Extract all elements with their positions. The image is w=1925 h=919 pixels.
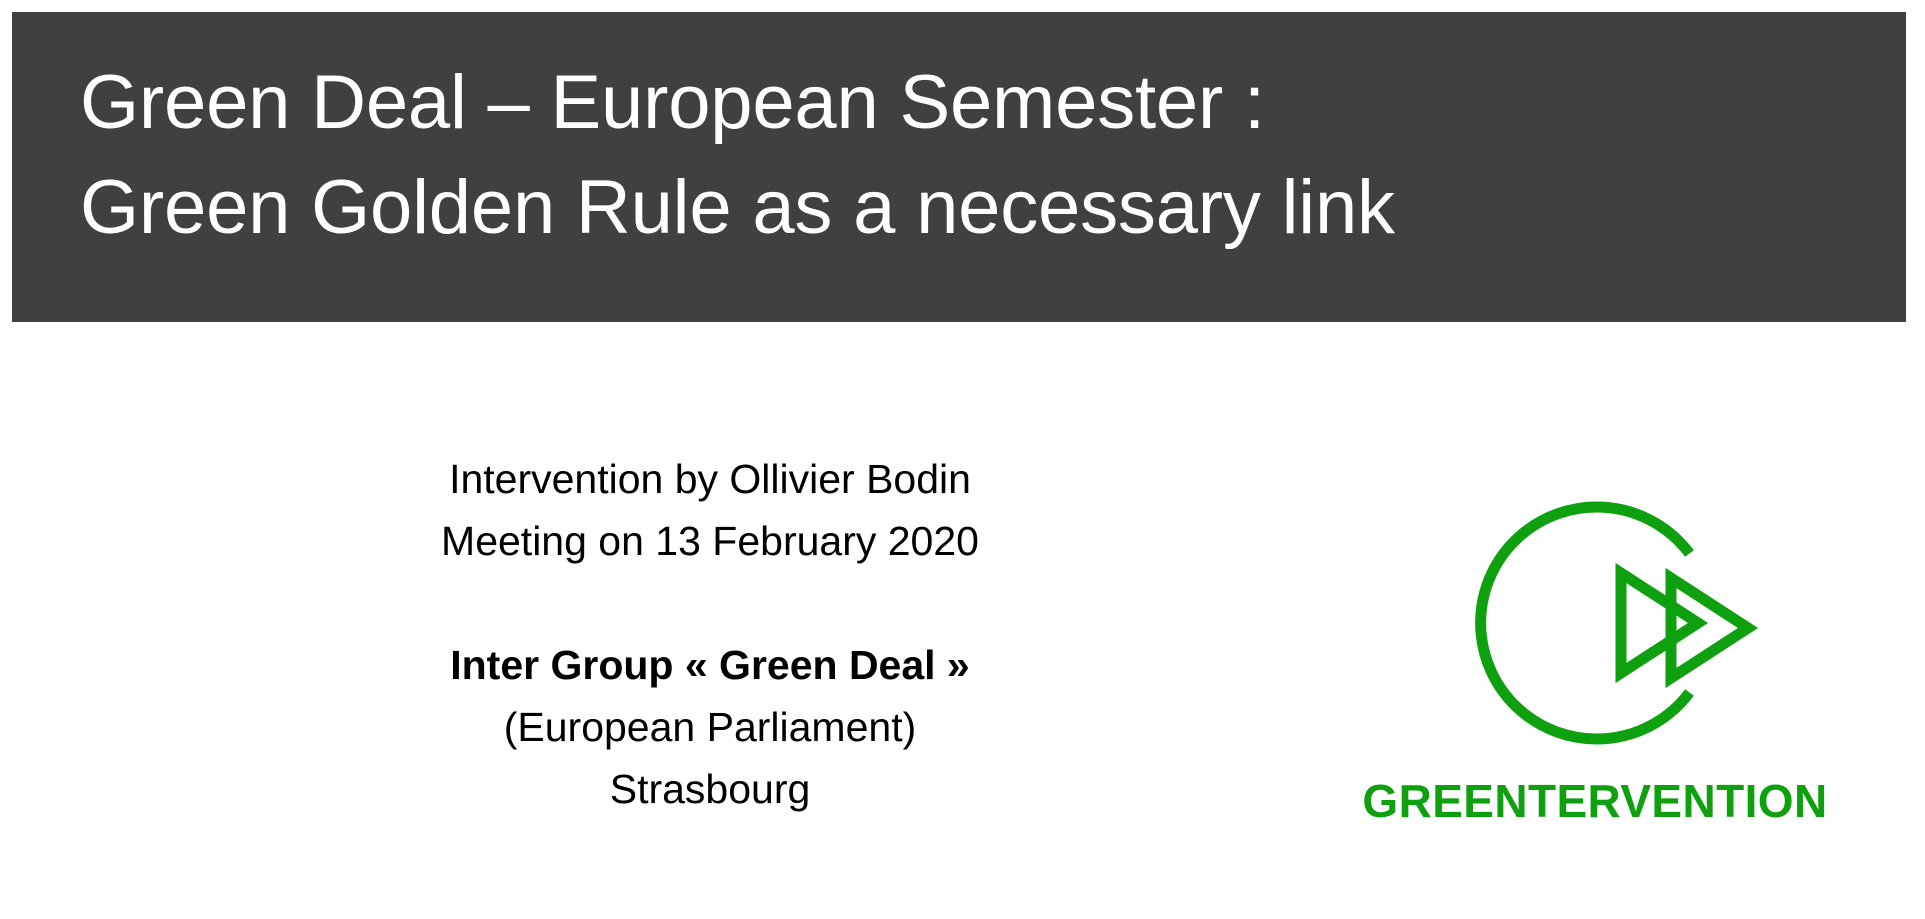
meeting-date-line: Meeting on 13 February 2020 <box>275 510 1145 572</box>
slide-canvas: Green Deal – European Semester : Green G… <box>0 0 1925 919</box>
greentervention-mark-icon <box>1445 492 1765 754</box>
greentervention-logo: GREENTERVENTION <box>1335 492 1855 852</box>
subtitle-block: Intervention by Ollivier Bodin Meeting o… <box>275 448 1145 820</box>
page-title: Green Deal – European Semester : Green G… <box>80 50 1860 260</box>
body-spacer <box>275 572 1145 634</box>
institution-line: (European Parliament) <box>275 696 1145 758</box>
logo-wordmark: GREENTERVENTION <box>1335 774 1855 828</box>
group-name-line: Inter Group « Green Deal » <box>275 634 1145 696</box>
speaker-line: Intervention by Ollivier Bodin <box>275 448 1145 510</box>
title-banner: Green Deal – European Semester : Green G… <box>12 12 1906 322</box>
circle-double-arrow-icon <box>1445 492 1765 754</box>
location-line: Strasbourg <box>275 758 1145 820</box>
